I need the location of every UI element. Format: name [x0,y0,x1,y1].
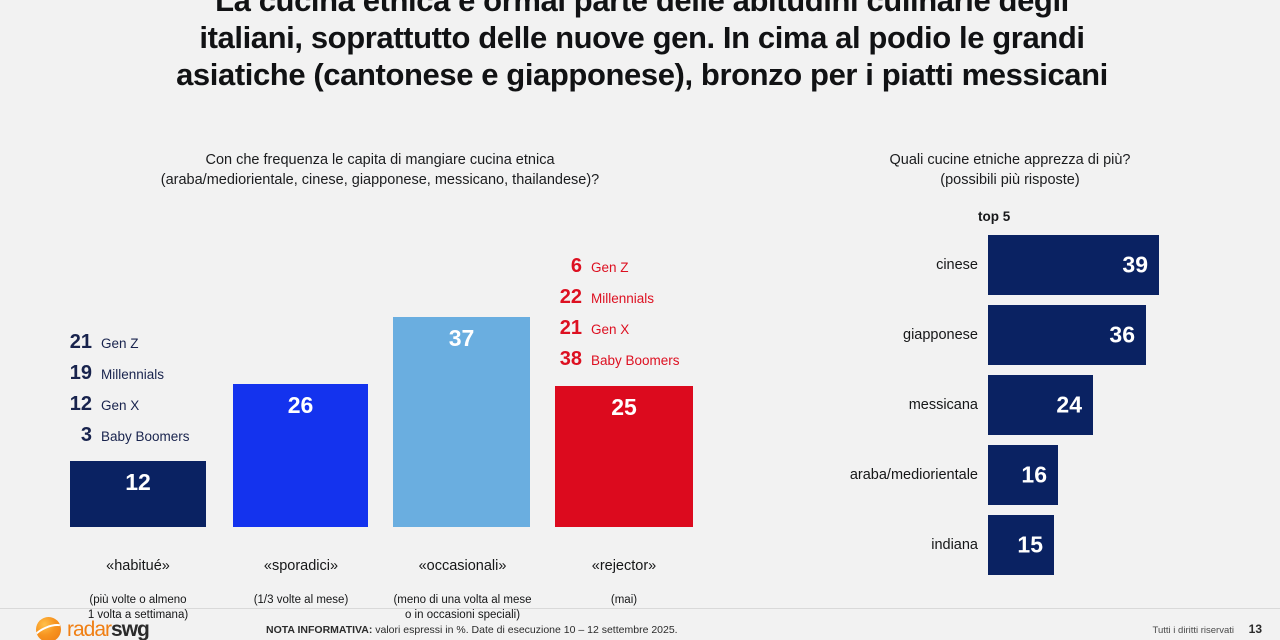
bar-giapponese[interactable]: 36 [988,305,1146,365]
favourite-cuisines-bar-chart: Quali cucine etniche apprezza di più? (p… [780,0,1280,640]
legend-row: 22 Millennials [548,286,680,317]
row-messicana: messicana 24 [780,375,1200,435]
legend-value: 19 [58,362,92,385]
row-indiana: indiana 15 [780,515,1200,575]
legend-label: Baby Boomers [101,429,190,444]
bar-habitue[interactable]: 12 [70,461,206,527]
legend-row: 6 Gen Z [548,255,680,286]
bar-value: 37 [393,325,530,352]
bar-value: 16 [1021,462,1047,489]
bar-value: 26 [233,392,368,419]
note-text: valori espressi in %. Date di esecuzione… [372,624,677,636]
row-label: araba/mediorientale [850,467,978,483]
bar-value: 12 [70,469,206,496]
bar-occasionali[interactable]: 37 [393,317,530,527]
top5-label: top 5 [978,209,1010,224]
legend-value: 21 [548,317,582,340]
legend-row: 38 Baby Boomers [548,348,680,379]
legend-value: 38 [548,348,582,371]
legend-row: 21 Gen X [548,317,680,348]
radar-sphere-icon [36,617,61,640]
legend-label: Millennials [591,291,654,306]
bar-value: 24 [1056,392,1082,419]
legend-label: Gen X [591,322,629,337]
legend-label: Baby Boomers [591,353,680,368]
radar-swg-logo: radarswg [36,617,149,640]
legend-value: 3 [58,424,92,447]
logo-swg-text: swg [111,618,149,640]
legend-value: 12 [58,393,92,416]
bar-value: 36 [1109,322,1135,349]
legend-label: Millennials [101,367,164,382]
legend-row: 21 Gen Z [58,331,190,362]
category-name: «habitué» [48,557,228,575]
category-subtitle: (1/3 volte al mese) [215,593,387,608]
row-araba-mediorientale: araba/mediorientale 16 [780,445,1200,505]
bar-indiana[interactable]: 15 [988,515,1054,575]
legend-row: 19 Millennials [58,362,190,393]
legend-row: 12 Gen X [58,393,190,424]
footer-divider [0,608,1280,609]
logo-radar-text: radar [67,618,111,640]
bar-value: 15 [1017,532,1043,559]
bar-rejector[interactable]: 25 [555,386,693,527]
legend-value: 6 [548,255,582,278]
row-cinese: cinese 39 [780,235,1200,295]
rights-reserved-text: Tutti i diritti riservati [1153,625,1234,636]
habitue-generation-legend: 21 Gen Z 19 Millennials 12 Gen X 3 Baby … [58,331,190,455]
logo-wordmark: radarswg [67,619,149,640]
legend-value: 22 [548,286,582,309]
rejector-generation-legend: 6 Gen Z 22 Millennials 21 Gen X 38 Baby … [548,255,680,379]
category-name: «sporadici» [215,557,387,575]
row-label: giapponese [903,327,978,343]
category-name: «rejector» [556,557,692,575]
bar-cinese[interactable]: 39 [988,235,1159,295]
slide-canvas: La cucina etnica è ormai parte delle abi… [0,0,1280,640]
bar-sporadici[interactable]: 26 [233,384,368,527]
row-giapponese: giapponese 36 [780,305,1200,365]
bar-araba-mediorientale[interactable]: 16 [988,445,1058,505]
legend-label: Gen Z [591,260,629,275]
legend-value: 21 [58,331,92,354]
row-label: messicana [909,397,978,413]
row-label: cinese [936,257,978,273]
bar-messicana[interactable]: 24 [988,375,1093,435]
frequency-bar-chart: Con che frequenza le capita di mangiare … [0,0,760,640]
informative-note: NOTA INFORMATIVA: valori espressi in %. … [266,624,678,636]
legend-label: Gen Z [101,336,139,351]
category-subtitle: (mai) [556,593,692,608]
row-label: indiana [931,537,978,553]
legend-label: Gen X [101,398,139,413]
page-number: 13 [1249,622,1262,636]
category-name: «occasionali» [370,557,555,575]
right-chart-question: Quali cucine etniche apprezza di più? (p… [800,150,1220,190]
note-label: NOTA INFORMATIVA: [266,624,372,636]
bar-value: 25 [555,394,693,421]
bar-value: 39 [1122,252,1148,279]
left-chart-question: Con che frequenza le capita di mangiare … [60,150,700,190]
legend-row: 3 Baby Boomers [58,424,190,455]
